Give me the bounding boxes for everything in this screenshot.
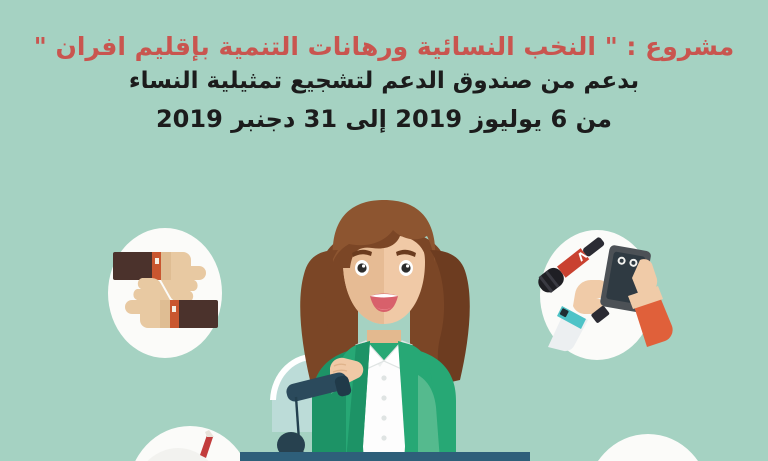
- date-range-line: من 6 يوليوز 2019 إلى 31 دجنبر 2019: [0, 99, 768, 140]
- poster-text-block: مشروع : " النخب النسائية ورهانات التنمية…: [0, 30, 768, 140]
- eye-right: [399, 260, 413, 276]
- project-title-line: مشروع : " النخب النسائية ورهانات التنمية…: [0, 30, 768, 64]
- eye-left: [355, 260, 369, 276]
- poster: TV: [0, 0, 768, 461]
- funding-subtitle-line: بدعم من صندوق الدعم لتشجيع تمثيلية النسا…: [0, 64, 768, 100]
- circle-thumbs-rating: [108, 228, 222, 358]
